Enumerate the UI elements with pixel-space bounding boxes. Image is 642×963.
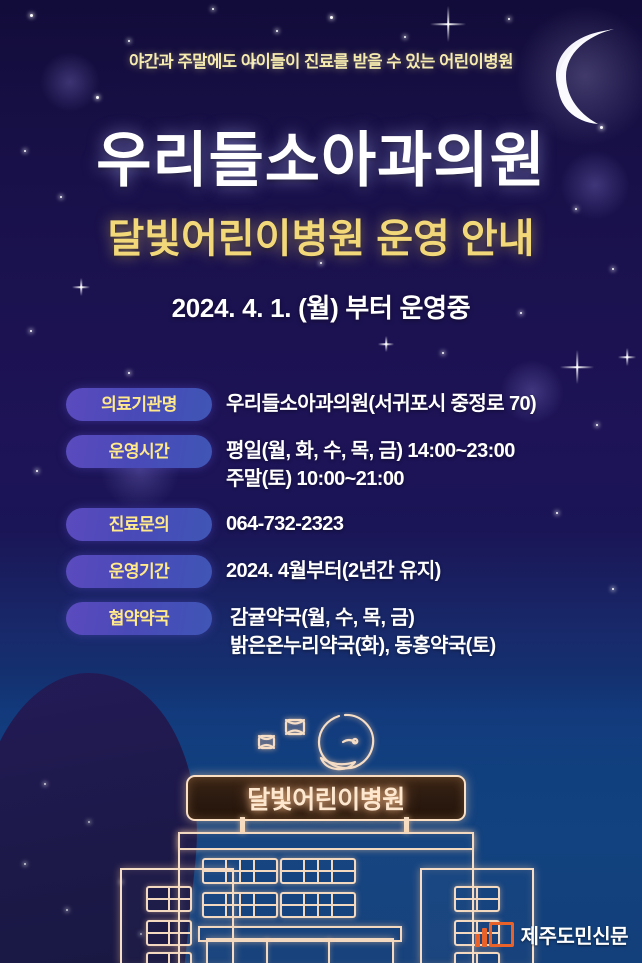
page-subtitle: 달빛어린이병원 운영 안내 <box>0 206 642 264</box>
info-value-institution: 우리들소아과의원(서귀포시 중정로 70) <box>226 388 536 418</box>
sparkle-star-icon <box>618 348 636 366</box>
neon-signboard: 달빛어린이병원 <box>186 775 466 821</box>
hospital-building-icon <box>120 828 530 963</box>
star-icon <box>30 14 33 17</box>
info-value-period: 2024. 4월부터(2년간 유지) <box>226 555 441 585</box>
star-icon <box>442 352 444 354</box>
info-label-hours: 운영시간 <box>66 435 212 468</box>
star-icon <box>276 30 278 32</box>
signboard-label: 달빛어린이병원 <box>247 780 405 816</box>
star-icon <box>612 268 614 270</box>
info-label-phone: 진료문의 <box>66 508 212 541</box>
sparkle-star-icon <box>378 336 394 352</box>
info-row-pharmacy: 협약약국 감귤약국(월, 수, 목, 금) 밝은온누리약국(화), 동홍약국(토… <box>66 602 586 661</box>
info-value-line: 064-732-2323 <box>226 510 343 538</box>
watermark: 제주도민신문 <box>475 920 628 949</box>
star-icon <box>212 8 214 10</box>
star-icon <box>596 424 598 426</box>
star-icon <box>508 18 510 20</box>
info-value-line: 감귤약국(월, 수, 목, 금) <box>230 604 496 632</box>
info-value-line: 2024. 4월부터(2년간 유지) <box>226 557 441 585</box>
info-value-pharmacy: 감귤약국(월, 수, 목, 금) 밝은온누리약국(화), 동홍약국(토) <box>230 602 496 661</box>
star-icon <box>128 372 130 374</box>
star-icon <box>404 36 406 38</box>
info-row-institution: 의료기관명 우리들소아과의원(서귀포시 중정로 70) <box>66 388 586 421</box>
info-value-line: 주말(토) 10:00~21:00 <box>226 465 515 493</box>
poster-tagline: 야간과 주말에도 아이들이 진료를 받을 수 있는 어린이병원 <box>0 48 642 72</box>
star-icon <box>96 96 99 99</box>
star-icon <box>30 330 32 332</box>
sparkle-star-icon <box>560 350 594 384</box>
watermark-text: 제주도민신문 <box>521 920 628 949</box>
info-value-line: 밝은온누리약국(화), 동홍약국(토) <box>230 632 496 660</box>
poster-canvas: 야간과 주말에도 아이들이 진료를 받을 수 있는 어린이병원 우리들소아과의원… <box>0 0 642 963</box>
info-label-pharmacy: 협약약국 <box>66 602 212 635</box>
info-value-line: 우리들소아과의원(서귀포시 중정로 70) <box>226 390 536 418</box>
info-value-phone: 064-732-2323 <box>226 508 343 538</box>
star-icon <box>612 588 614 590</box>
star-icon <box>36 470 38 472</box>
info-value-hours: 평일(월, 화, 수, 목, 금) 14:00~23:00 주말(토) 10:0… <box>226 435 515 494</box>
star-icon <box>128 40 130 42</box>
info-row-phone: 진료문의 064-732-2323 <box>66 508 586 541</box>
info-list: 의료기관명 우리들소아과의원(서귀포시 중정로 70) 운영시간 평일(월, 화… <box>66 388 586 675</box>
info-value-line: 평일(월, 화, 수, 목, 금) 14:00~23:00 <box>226 437 515 465</box>
newspaper-logo-icon <box>475 922 514 947</box>
star-icon <box>330 16 333 19</box>
info-label-period: 운영기간 <box>66 555 212 588</box>
sparkle-star-icon <box>430 6 466 42</box>
crescent-moon-icon <box>540 28 630 124</box>
info-row-period: 운영기간 2024. 4월부터(2년간 유지) <box>66 555 586 588</box>
page-title: 우리들소아과의원 <box>0 112 642 199</box>
sleeping-moon-icon <box>243 712 383 780</box>
info-label-institution: 의료기관명 <box>66 388 212 421</box>
start-date-text: 2024. 4. 1. (월) 부터 운영중 <box>0 288 642 325</box>
info-row-hours: 운영시간 평일(월, 화, 수, 목, 금) 14:00~23:00 주말(토)… <box>66 435 586 494</box>
